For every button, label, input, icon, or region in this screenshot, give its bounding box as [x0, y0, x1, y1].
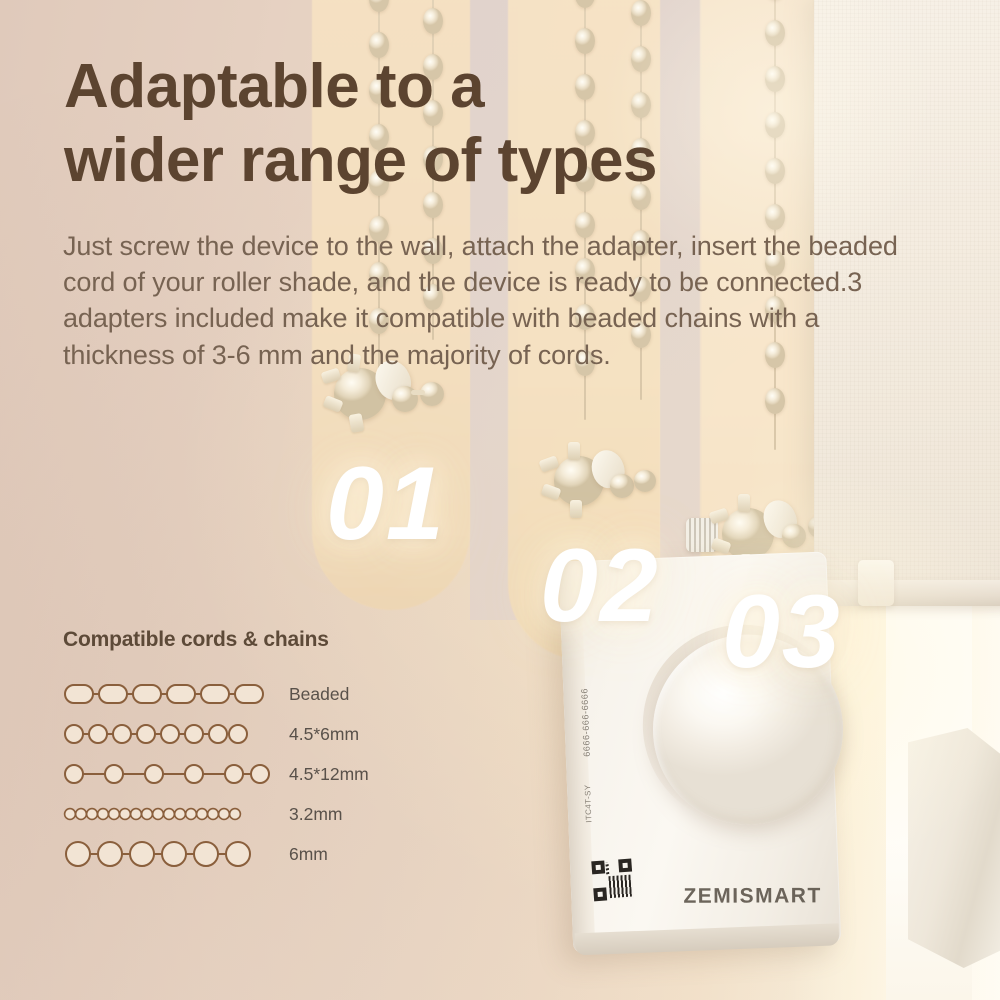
- product-marketing-image: 6666-666-6666 ITC4T-SY ZEMISMART Adaptab…: [0, 0, 1000, 1000]
- compat-row-label: 4.5*6mm: [289, 724, 359, 745]
- compat-row-label: 4.5*12mm: [289, 764, 369, 785]
- qr-code-icon: [591, 858, 634, 901]
- headline-line-1: Adaptable to a: [64, 50, 784, 124]
- headline-line-2: wider range of types: [64, 124, 784, 198]
- compat-row: 6mm: [63, 834, 483, 874]
- body-paragraph: Just screw the device to the wall, attac…: [63, 228, 923, 373]
- compatibility-title: Compatible cords & chains: [63, 628, 483, 652]
- step-number-01: 01: [326, 452, 446, 556]
- compat-row: 3.2mm: [63, 794, 483, 834]
- compat-row: 4.5*6mm: [63, 714, 483, 754]
- chain-round-spaced-icon: [63, 759, 273, 789]
- compat-row-label: 3.2mm: [289, 804, 342, 825]
- compat-row-label: 6mm: [289, 844, 328, 865]
- compat-row: Beaded: [63, 674, 483, 714]
- compat-row-label: Beaded: [289, 684, 349, 705]
- compat-row: 4.5*12mm: [63, 754, 483, 794]
- compatibility-section: Compatible cords & chains: [63, 628, 483, 874]
- step-number-02: 02: [540, 534, 660, 638]
- step-number-03: 03: [722, 580, 842, 684]
- chain-micro-beads-icon: [63, 799, 273, 829]
- page-title: Adaptable to a wider range of types: [64, 50, 784, 199]
- device-brand-logo: ZEMISMART: [683, 884, 821, 908]
- chain-round-large-icon: [63, 839, 273, 869]
- adapter-cluster-2: [532, 442, 672, 534]
- device-model-mark: ITC4T-SY: [583, 784, 593, 823]
- chain-oval-linked-icon: [63, 679, 273, 709]
- chain-round-tight-icon: [63, 719, 273, 749]
